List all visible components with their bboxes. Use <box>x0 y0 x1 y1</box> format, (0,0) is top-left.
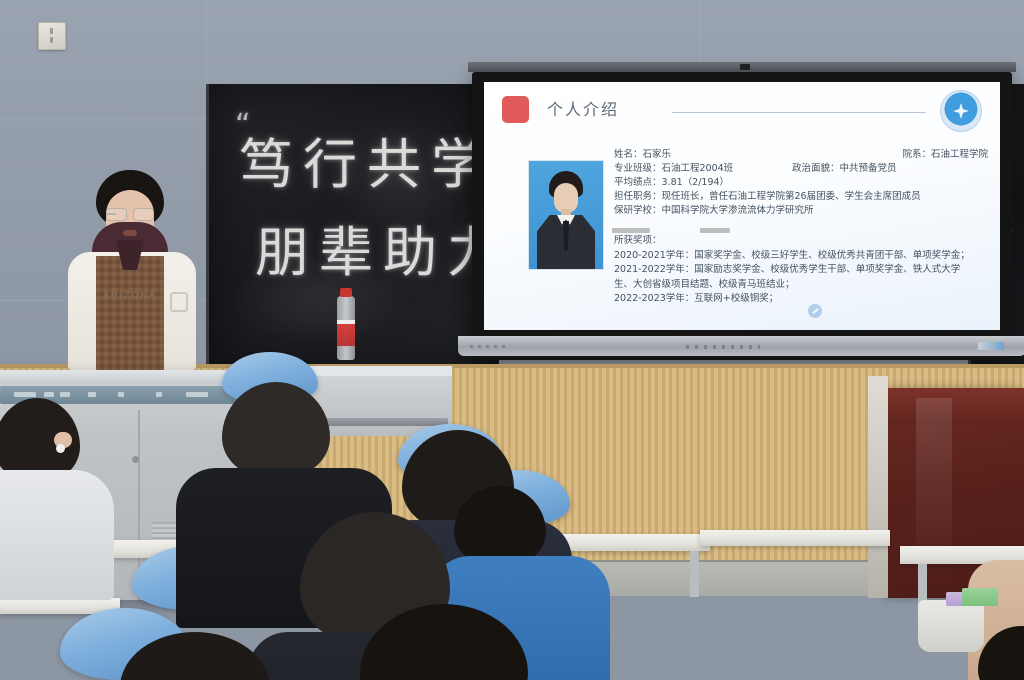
info-row: 姓名：石家乐 院系：石油工程学院 <box>614 148 992 162</box>
slide-title: 个人介绍 <box>547 96 619 120</box>
award-line: 2020-2021学年：国家奖学金、校级三好学生、校级优秀共青团干部、单项奖学金… <box>614 249 990 264</box>
info-row: 担任职务：现任班长，曾任石油工程学院第26届团委、学生会主席团成员 <box>614 190 992 204</box>
field-political-status: 政治面貌：中共预备党员 <box>792 162 897 176</box>
awards-heading: 所获奖项： <box>614 234 990 249</box>
earring-icon <box>56 444 65 453</box>
id-photo <box>528 160 604 270</box>
awards-section: 所获奖项： 2020-2021学年：国家奖学金、校级三好学生、校级优秀共青团干部… <box>614 234 990 307</box>
jacket-patch-icon <box>170 292 188 312</box>
classroom-scene: “ 笃行共学 朋辈助力 石 保 个人介绍 <box>0 0 1024 680</box>
header-divider <box>672 112 926 113</box>
camera-icon <box>740 64 750 70</box>
slide-watermark-icon <box>808 304 822 318</box>
waste-bin <box>918 600 984 652</box>
presenter-person: ARIZONA <box>62 170 202 370</box>
water-bottle <box>337 296 355 360</box>
field-grad-school: 保研学校：中国科学院大学渗流流体力学研究所 <box>614 204 814 218</box>
info-row: 保研学校：中国科学院大学渗流流体力学研究所 <box>614 204 992 218</box>
chalk-line-1: 笃行共学 <box>239 120 495 199</box>
presenter-jacket-front <box>96 256 164 370</box>
smart-display[interactable]: 个人介绍 姓名：石家乐 院系：石油工程学院 <box>472 72 1012 360</box>
field-gpa: 平均绩点：3.81（2/194） <box>614 176 729 190</box>
bezel-speaker-grille <box>686 345 760 349</box>
bezel-controls-left[interactable] <box>470 345 510 348</box>
info-row: 专业班级：石油工程2004班 政治面貌：中共预备党员 <box>614 162 992 176</box>
presentation-slide: 个人介绍 姓名：石家乐 院系：石油工程学院 <box>484 82 1000 330</box>
field-name: 姓名：石家乐 <box>614 148 671 162</box>
award-line: 2021-2022学年：国家励志奖学金、校级优秀学生干部、单项奖学金、铁人式大学 <box>614 263 990 278</box>
jacket-text: ARIZONA <box>100 290 160 300</box>
bottle-cap <box>340 288 352 297</box>
award-line: 生、大创省级项目结题、校级青马班结业； <box>614 278 990 293</box>
item-green-pack <box>962 588 998 606</box>
field-department: 院系：石油工程学院 <box>902 148 988 162</box>
accent-square-icon <box>502 96 529 123</box>
student-desk <box>700 530 890 546</box>
slide-header: 个人介绍 <box>502 94 988 134</box>
bottle-label <box>337 324 355 346</box>
field-class: 专业班级：石油工程2004班 <box>614 162 733 176</box>
brand-logo-icon <box>978 342 1004 350</box>
info-row: 平均绩点：3.81（2/194） <box>614 176 992 190</box>
wall-outlet-icon <box>38 22 66 50</box>
drawer-rail <box>310 418 448 426</box>
university-emblem-icon <box>940 90 982 132</box>
field-positions: 担任职务：现任班长，曾任石油工程学院第26届团委、学生会主席团成员 <box>614 190 921 204</box>
display-bottom-bezel[interactable] <box>458 336 1024 356</box>
presenter-mouth <box>123 230 137 236</box>
award-line: 2022-2023学年：互联网+校级铜奖； <box>614 292 990 307</box>
info-fields: 姓名：石家乐 院系：石油工程学院 专业班级：石油工程2004班 政治面貌：中共预… <box>614 148 992 218</box>
display-screen[interactable]: 个人介绍 姓名：石家乐 院系：石油工程学院 <box>484 82 1000 330</box>
